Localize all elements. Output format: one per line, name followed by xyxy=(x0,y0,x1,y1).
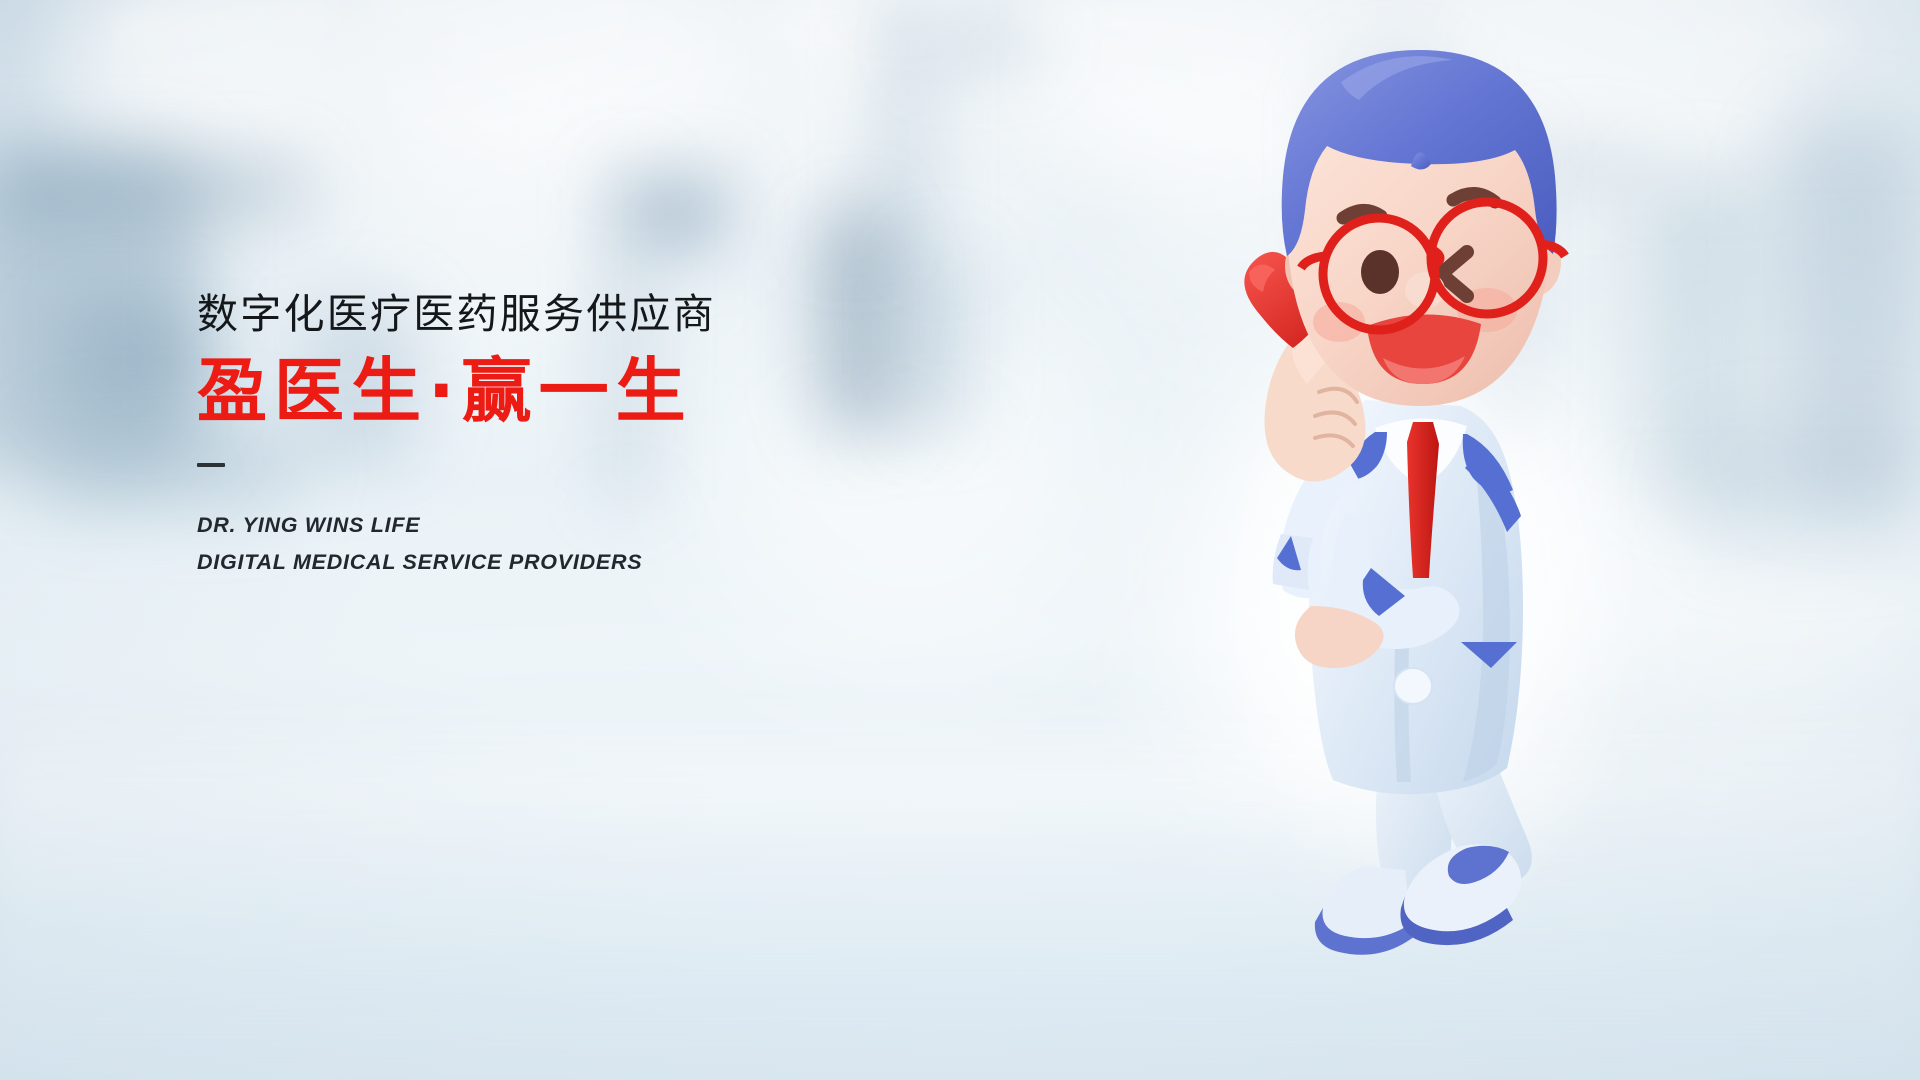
hero-banner: 数字化医疗医药服务供应商 盈医生·赢一生 DR. YING WINS LIFE … xyxy=(0,0,1920,1080)
hero-english: DR. YING WINS LIFE DIGITAL MEDICAL SERVI… xyxy=(197,507,957,581)
coat-split xyxy=(1394,646,1411,782)
open-eye xyxy=(1361,250,1399,294)
english-line-2: DIGITAL MEDICAL SERVICE PROVIDERS xyxy=(197,544,957,581)
divider-rule xyxy=(197,463,225,467)
doctor-mascot xyxy=(1215,40,1645,1050)
hero-copy: 数字化医疗医药服务供应商 盈医生·赢一生 DR. YING WINS LIFE … xyxy=(197,292,957,581)
hero-headline: 盈医生·赢一生 xyxy=(197,353,957,430)
hero-kicker: 数字化医疗医药服务供应商 xyxy=(197,292,957,338)
english-line-1: DR. YING WINS LIFE xyxy=(197,507,957,544)
coat-button xyxy=(1394,668,1432,704)
